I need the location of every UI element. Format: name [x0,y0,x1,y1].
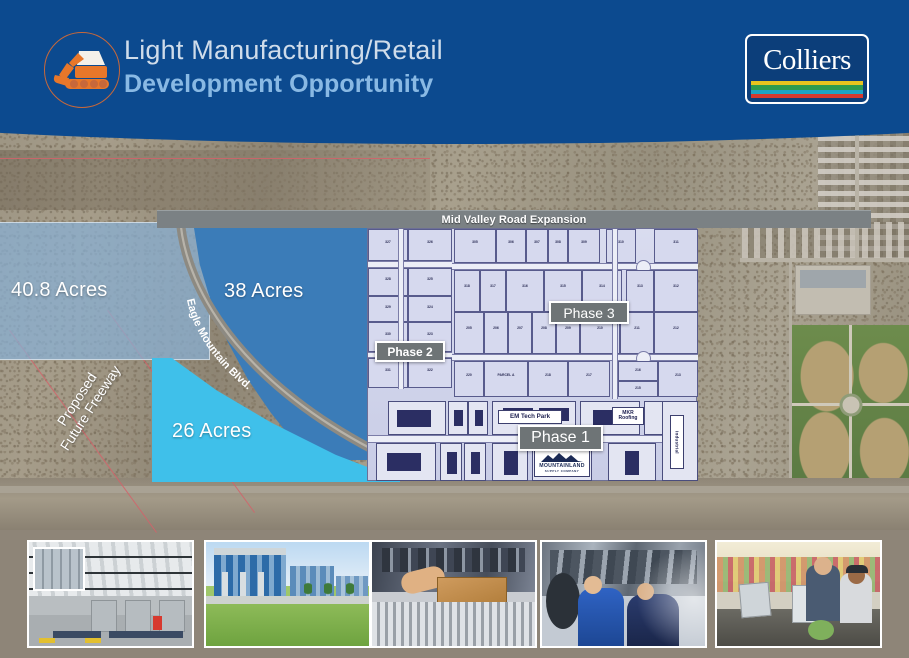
table-row[interactable]: 322 [408,358,452,388]
table-row[interactable]: PARCEL A [484,361,528,397]
table-row[interactable]: 218 [528,361,568,397]
building-pad[interactable] [440,443,462,481]
table-row[interactable]: 308 [548,229,568,263]
street-segment [452,263,698,270]
table-row[interactable]: 325 [408,268,452,296]
table-row[interactable]: 316 [506,270,544,312]
table-row[interactable]: 326 [408,229,452,261]
photo-retail-checkout [715,540,882,648]
aerial-road-vertical [855,130,859,262]
table-row[interactable]: 311 [654,229,698,263]
blvd-label-text: Eagle Mountain Blvd. [184,297,254,392]
pad-label-mkr-roofing: MKR Roofing [612,407,644,425]
table-row[interactable]: 309 [568,229,600,263]
mountain-peaks-icon [540,452,584,463]
colliers-logo[interactable]: Colliers [745,34,869,104]
photo-conveyor-packaging [370,540,537,648]
table-row[interactable]: 324 [408,296,452,322]
table-row[interactable]: 212 [654,312,698,354]
parcel-label-40-8: 40.8 Acres [11,279,108,302]
aerial-road-horizontal [740,258,909,262]
title-line-1: Light Manufacturing/Retail [124,35,443,67]
table-row[interactable]: 207 [508,312,532,354]
phase-2-label: Phase 2 [387,345,432,359]
phase-1-label: Phase 1 [531,429,590,447]
street-segment [452,354,698,361]
phase-2-callout[interactable]: Phase 2 [375,341,445,362]
table-row[interactable]: 216 [618,361,658,381]
building-pad[interactable] [448,401,468,435]
table-row[interactable]: 206 [484,312,508,354]
page-header: Light Manufacturing/Retail Development O… [0,0,909,144]
page-stage: 40.8 Acres 38 Acres 26 Acres Eagle Mount… [0,0,909,658]
street-segment [368,261,452,268]
table-row[interactable]: 220 [454,361,484,397]
table-row[interactable]: 318 [454,270,480,312]
colliers-color-bars [751,81,863,98]
building-pad[interactable] [608,443,656,481]
freeway-row-line-top [0,158,430,159]
building-pad[interactable] [464,443,486,481]
aerial-ball-fields [792,325,909,485]
pad-label-vertical-east: Industrial [670,415,684,469]
table-row[interactable]: 307 [526,229,548,263]
aerial-dark-field [0,150,430,210]
table-row[interactable]: 310 [606,229,636,263]
table-row[interactable]: 317 [480,270,506,312]
mountainland-sub: SUPPLY COMPANY [545,469,580,473]
pad-label-mountainland: MOUNTAINLAND SUPPLY COMPANY [534,447,590,477]
building-pad[interactable] [468,401,488,435]
photo-auto-technicians [540,540,707,648]
aerial-south-road [0,486,909,493]
photo-strip [0,530,909,658]
table-row[interactable]: 305 [454,229,496,263]
mid-valley-road-label: Mid Valley Road Expansion [442,214,587,226]
aerial-school-building [795,265,871,315]
phase-3-callout[interactable]: Phase 3 [549,301,629,324]
building-pad[interactable] [388,401,446,435]
photo-warehouse-interior [27,540,194,648]
colliers-wordmark: Colliers [751,40,863,81]
mid-valley-road-banner[interactable]: Mid Valley Road Expansion [157,210,871,228]
table-row[interactable]: 217 [568,361,610,397]
table-row[interactable]: 312 [654,270,698,312]
phase-1-callout[interactable]: Phase 1 [518,425,603,451]
table-row[interactable]: 215 [618,381,658,397]
pad-label-em-tech-park: EM Tech Park [498,410,562,424]
photo-office-campus [204,540,371,648]
page-title: Light Manufacturing/Retail Development O… [124,35,443,99]
street-vertical [398,229,404,389]
excavator-icon [44,32,120,108]
table-row[interactable]: 205 [454,312,484,354]
title-line-2: Development Opportunity [124,69,443,99]
table-row[interactable]: 313 [626,270,654,312]
building-pad[interactable] [376,443,436,481]
phase-3-label: Phase 3 [563,305,614,321]
table-row[interactable]: 306 [496,229,526,263]
table-row[interactable]: 213 [658,361,698,397]
